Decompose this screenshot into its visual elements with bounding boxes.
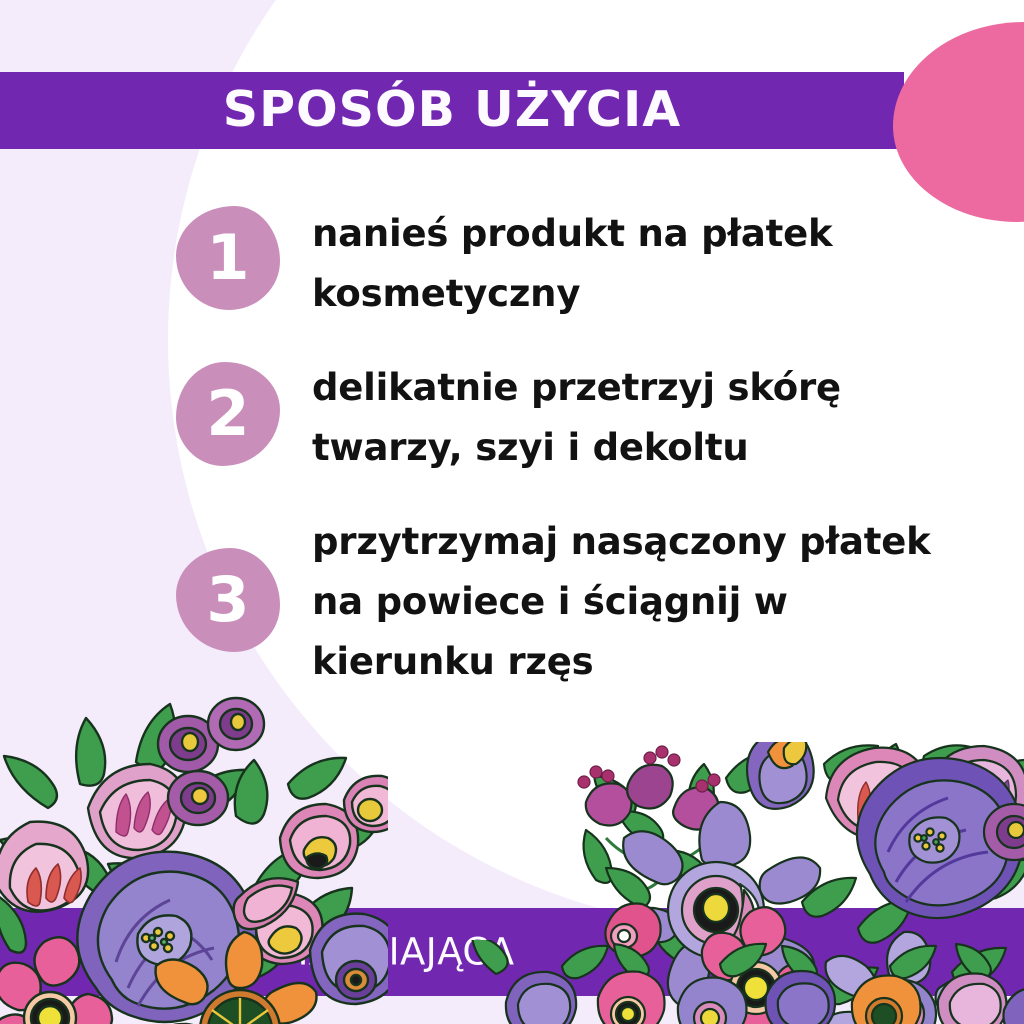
step-number-badge: 2 [176, 362, 280, 466]
poster-canvas: SPOSÓB UŻYCIA 1 nanieś produkt na płatek… [0, 0, 1024, 1024]
header-banner: SPOSÓB UŻYCIA [0, 72, 904, 149]
step-description: przytrzymaj nasączony płatek na powiece … [312, 504, 1024, 692]
step-number-badge: 3 [176, 548, 280, 652]
footer-banner: SERIA WZMACNIAJĄCA [0, 908, 1024, 996]
list-item: 1 nanieś produkt na płatek kosmetyczny [0, 196, 1024, 324]
step-number-badge: 1 [176, 206, 280, 310]
list-item: 2 delikatnie przetrzyj skórę twarzy, szy… [0, 350, 1024, 478]
list-item: 3 przytrzymaj nasączony płatek na powiec… [0, 504, 1024, 692]
steps-list: 1 nanieś produkt na płatek kosmetyczny 2… [0, 196, 1024, 706]
step-description: nanieś produkt na płatek kosmetyczny [312, 196, 1024, 324]
series-label: SERIA WZMACNIAJĄCA [90, 931, 515, 974]
page-title: SPOSÓB UŻYCIA [223, 85, 681, 134]
step-description: delikatnie przetrzyj skórę twarzy, szyi … [312, 350, 1024, 478]
